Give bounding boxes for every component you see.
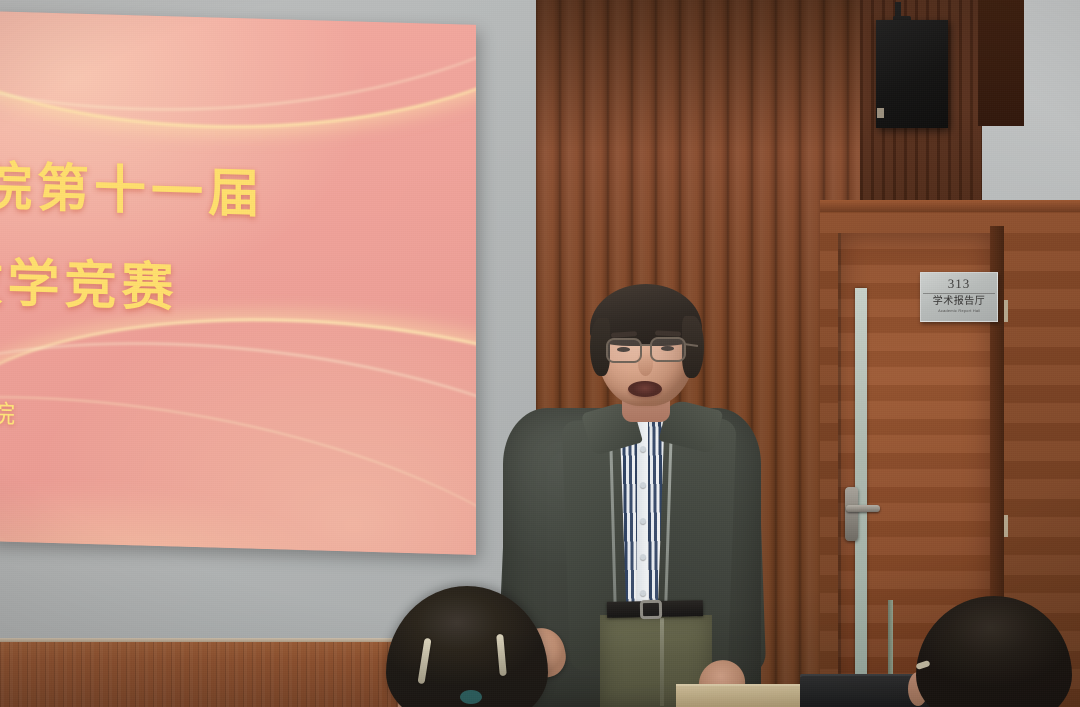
presenter-chin-shadow	[615, 396, 677, 410]
shirt-button	[640, 482, 646, 488]
eyeglasses-bridge	[641, 344, 652, 346]
presenter-belt-buckle	[640, 600, 662, 619]
shirt-button	[640, 446, 646, 452]
audience-member-left-hair-tie	[460, 690, 482, 704]
standing-presenter	[0, 0, 1080, 707]
presenter-mouth	[628, 381, 662, 397]
presenter-trouser-fly	[660, 618, 664, 706]
eyeglasses-left-lens-icon	[606, 338, 642, 363]
shirt-button	[640, 590, 646, 596]
shirt-button	[640, 554, 646, 560]
shirt-button	[640, 518, 646, 524]
photo-scene: 机学院第十一届 ” 教学竞赛 计算机学院 0月13日 313 学术报告厅 Aca…	[0, 0, 1080, 707]
presenter-nose	[638, 352, 653, 376]
eyeglasses-right-lens-icon	[650, 337, 686, 362]
